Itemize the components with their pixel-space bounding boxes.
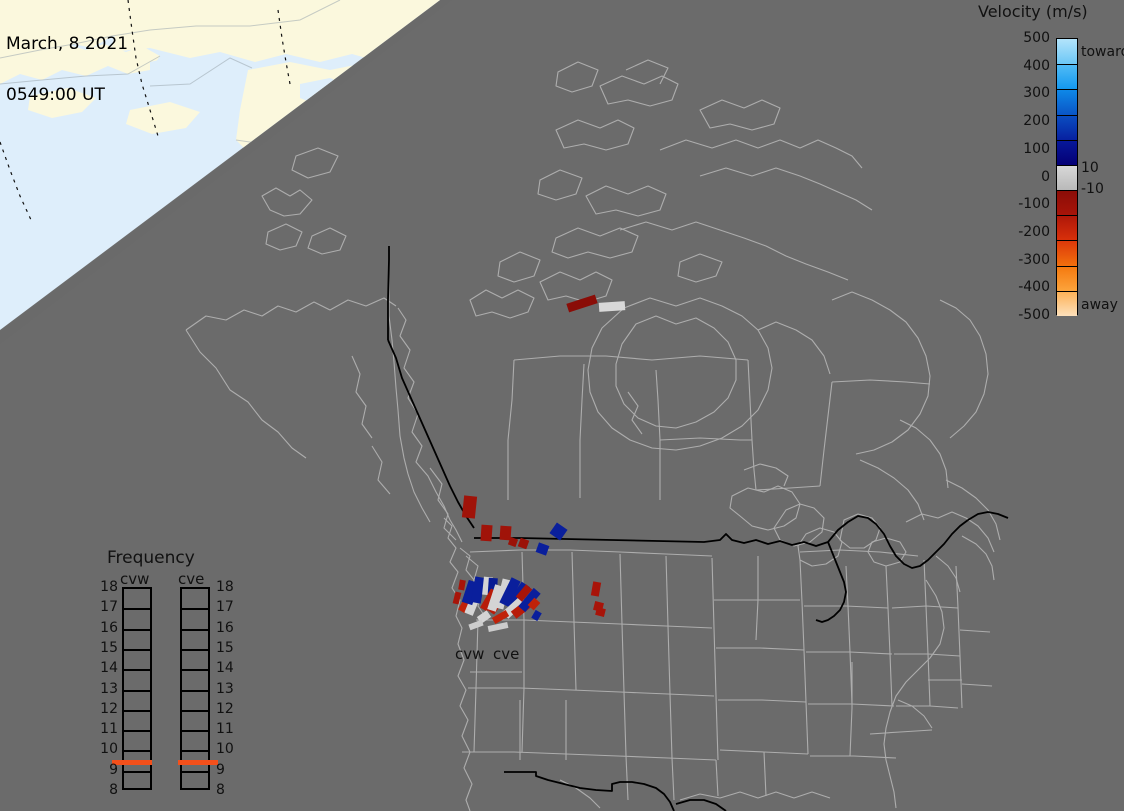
station-label-cve: cve bbox=[493, 645, 519, 663]
velocity-legend-title: Velocity (m/s) bbox=[978, 2, 1088, 21]
velocity-tick-label: -400 bbox=[1018, 279, 1050, 295]
radar-beam-cell bbox=[599, 301, 626, 312]
frequency-tick-label: 13 bbox=[100, 681, 118, 697]
frequency-tick-label: 17 bbox=[100, 599, 118, 615]
radar-beam-cell bbox=[461, 495, 476, 518]
radar-beam-cell bbox=[595, 607, 606, 617]
velocity-segment-divider bbox=[1057, 215, 1077, 216]
velocity-tick-label: 300 bbox=[1023, 85, 1050, 101]
frequency-marker-cvw bbox=[112, 760, 152, 765]
frequency-cell-divider bbox=[182, 690, 208, 692]
radar-beam-cell bbox=[480, 525, 492, 542]
velocity-side-labels: toward10-10away bbox=[1081, 38, 1124, 315]
velocity-legend: Velocity (m/s) 5004003002001000-100-200-… bbox=[966, 0, 1124, 340]
frequency-tick-label: 9 bbox=[216, 762, 234, 778]
frequency-cell-divider bbox=[182, 771, 208, 773]
velocity-tick-label: 0 bbox=[1041, 169, 1050, 185]
velocity-colorbar bbox=[1056, 38, 1078, 315]
velocity-tick-label: 100 bbox=[1023, 141, 1050, 157]
frequency-tick-label: 16 bbox=[100, 620, 118, 636]
frequency-cell-divider bbox=[124, 710, 150, 712]
frequency-cell-divider bbox=[182, 629, 208, 631]
velocity-segment-divider bbox=[1057, 115, 1077, 116]
velocity-segment-divider bbox=[1057, 266, 1077, 267]
radar-beam-cell bbox=[517, 537, 529, 549]
frequency-cell-divider bbox=[124, 669, 150, 671]
velocity-away-label: away bbox=[1081, 297, 1118, 313]
frequency-cell-divider bbox=[182, 608, 208, 610]
radar-beam-cell bbox=[508, 537, 518, 547]
frequency-tick-label: 16 bbox=[216, 620, 234, 636]
frequency-tick-label: 12 bbox=[100, 701, 118, 717]
frequency-cell-divider bbox=[124, 730, 150, 732]
velocity-colorbar-segment bbox=[1057, 89, 1077, 114]
velocity-colorbar-segment bbox=[1057, 190, 1077, 215]
station-label-cvw: cvw bbox=[455, 645, 484, 663]
frequency-legend: Frequency cvw18171615141312111098cve1817… bbox=[85, 548, 235, 798]
timestamp: March, 8 2021 0549:00 UT bbox=[6, 2, 128, 138]
frequency-tick-label: 8 bbox=[100, 782, 118, 798]
velocity-segment-divider bbox=[1057, 240, 1077, 241]
timestamp-date: March, 8 2021 bbox=[6, 36, 128, 53]
frequency-scale-cvw bbox=[122, 587, 152, 790]
frequency-tick-label: 14 bbox=[216, 660, 234, 676]
frequency-cell-divider bbox=[124, 608, 150, 610]
velocity-colorbar-segment bbox=[1057, 240, 1077, 265]
radar-beam-cell bbox=[453, 591, 462, 604]
frequency-tick-label: 17 bbox=[216, 599, 234, 615]
velocity-colorbar-segment bbox=[1057, 115, 1077, 140]
radar-beam-cell bbox=[531, 609, 542, 620]
velocity-colorbar-segment bbox=[1057, 39, 1077, 64]
frequency-tick-label: 11 bbox=[216, 721, 234, 737]
velocity-toward-label: toward bbox=[1081, 44, 1124, 60]
velocity-tick-label: 400 bbox=[1023, 58, 1050, 74]
frequency-cell-divider bbox=[124, 690, 150, 692]
frequency-tick-label: 18 bbox=[216, 579, 234, 595]
radar-beam-cell bbox=[468, 620, 483, 630]
frequency-cell-divider bbox=[182, 710, 208, 712]
velocity-tick-label: 200 bbox=[1023, 113, 1050, 129]
radar-beam-cell bbox=[566, 294, 597, 312]
velocity-colorbar-segment bbox=[1057, 266, 1077, 291]
velocity-colorbar-segment bbox=[1057, 64, 1077, 89]
frequency-tick-label: 18 bbox=[100, 579, 118, 595]
frequency-tick-label: 12 bbox=[216, 701, 234, 717]
radar-map-canvas: March, 8 2021 0549:00 UT cvw cve Velocit… bbox=[0, 0, 1124, 811]
velocity-segment-divider bbox=[1057, 89, 1077, 90]
velocity-inner-high-label: 10 bbox=[1081, 160, 1099, 176]
velocity-tick-labels: 5004003002001000-100-200-300-400-500 bbox=[966, 38, 1050, 315]
velocity-segment-divider bbox=[1057, 165, 1077, 166]
frequency-tick-label: 14 bbox=[100, 660, 118, 676]
frequency-cell-divider bbox=[124, 771, 150, 773]
radar-beam-cell bbox=[549, 522, 567, 540]
frequency-cell-divider bbox=[182, 649, 208, 651]
velocity-colorbar-segment bbox=[1057, 215, 1077, 240]
frequency-cell-divider bbox=[124, 629, 150, 631]
frequency-cell-divider bbox=[182, 750, 208, 752]
frequency-cell-divider bbox=[182, 730, 208, 732]
frequency-column-header-cve: cve bbox=[178, 570, 204, 588]
velocity-tick-label: -100 bbox=[1018, 196, 1050, 212]
velocity-colorbar-segment bbox=[1057, 165, 1077, 190]
frequency-cell-divider bbox=[124, 649, 150, 651]
velocity-colorbar-segment bbox=[1057, 291, 1077, 316]
velocity-colorbar-segment bbox=[1057, 140, 1077, 165]
velocity-segment-divider bbox=[1057, 64, 1077, 65]
velocity-tick-label: -200 bbox=[1018, 224, 1050, 240]
frequency-cell-divider bbox=[182, 669, 208, 671]
frequency-tick-label: 11 bbox=[100, 721, 118, 737]
frequency-tick-label: 8 bbox=[216, 782, 234, 798]
radar-beam-cell bbox=[535, 542, 549, 555]
frequency-tick-label: 10 bbox=[216, 741, 234, 757]
frequency-scale-cve bbox=[180, 587, 210, 790]
radar-beam-cell bbox=[591, 581, 601, 596]
velocity-inner-low-label: -10 bbox=[1081, 181, 1104, 197]
frequency-tick-label: 15 bbox=[216, 640, 234, 656]
velocity-segment-divider bbox=[1057, 291, 1077, 292]
frequency-tick-label: 13 bbox=[216, 681, 234, 697]
timestamp-time: 0549:00 UT bbox=[6, 87, 128, 104]
velocity-tick-label: -300 bbox=[1018, 252, 1050, 268]
frequency-column-header-cvw: cvw bbox=[120, 570, 149, 588]
frequency-legend-title: Frequency bbox=[107, 548, 195, 568]
frequency-tick-label: 15 bbox=[100, 640, 118, 656]
frequency-tick-label: 9 bbox=[100, 762, 118, 778]
radar-beam-cell bbox=[488, 622, 509, 632]
velocity-segment-divider bbox=[1057, 190, 1077, 191]
velocity-tick-label: 500 bbox=[1023, 30, 1050, 46]
velocity-segment-divider bbox=[1057, 140, 1077, 141]
frequency-cell-divider bbox=[124, 750, 150, 752]
frequency-tick-label: 10 bbox=[100, 741, 118, 757]
velocity-tick-label: -500 bbox=[1018, 307, 1050, 323]
frequency-marker-cve bbox=[178, 760, 218, 765]
